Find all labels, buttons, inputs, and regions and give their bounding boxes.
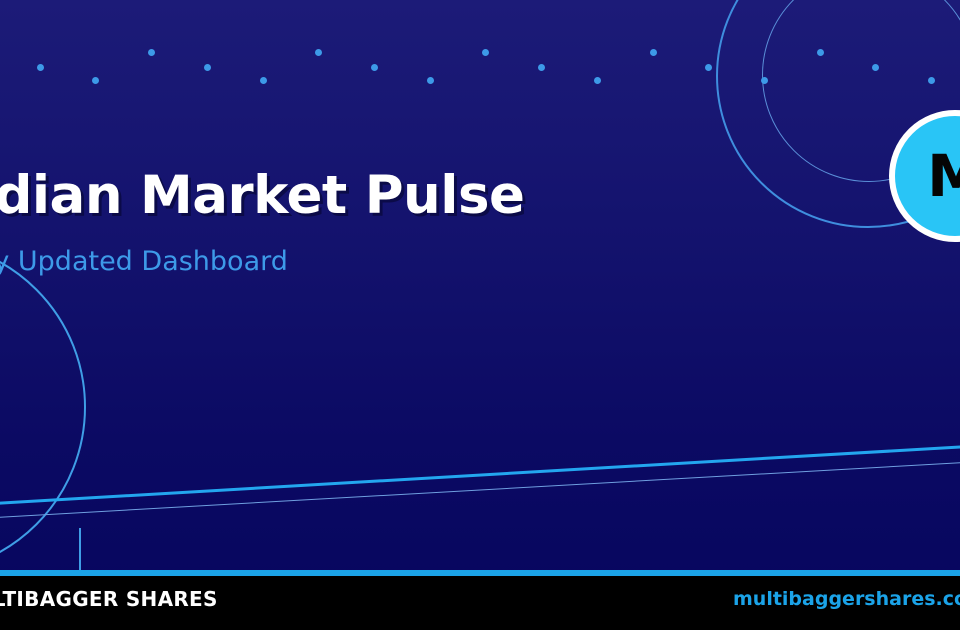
decor-dot-icon bbox=[37, 64, 44, 71]
headline-block: Indian Market Pulse Daily Updated Dashbo… bbox=[0, 168, 638, 277]
decorative-background bbox=[0, 0, 960, 630]
decor-dot-icon bbox=[538, 64, 545, 71]
logo-letter: M bbox=[927, 147, 960, 205]
decor-dot-icon bbox=[594, 77, 601, 84]
decor-dot-icon bbox=[872, 64, 879, 71]
decor-dot-icon bbox=[315, 49, 322, 56]
decor-dot-icon bbox=[371, 64, 378, 71]
decor-dot-icon bbox=[427, 77, 434, 84]
decor-dot-icon bbox=[650, 49, 657, 56]
page-subtitle: Daily Updated Dashboard bbox=[0, 246, 638, 277]
axis-tick-icon bbox=[79, 528, 81, 570]
arc-bottom-left-decor-icon bbox=[0, 240, 86, 574]
decor-dot-icon bbox=[204, 64, 211, 71]
trend-line-secondary-icon bbox=[0, 459, 960, 520]
decor-dot-icon bbox=[148, 49, 155, 56]
decor-dot-icon bbox=[705, 64, 712, 71]
presentation-slide: M Indian Market Pulse Daily Updated Dash… bbox=[0, 0, 960, 630]
decor-dot-icon bbox=[817, 49, 824, 56]
decor-dot-icon bbox=[92, 77, 99, 84]
decor-dot-icon bbox=[260, 77, 267, 84]
page-title: Indian Market Pulse bbox=[0, 168, 638, 224]
logo-badge: M bbox=[889, 110, 960, 242]
decor-dot-icon bbox=[482, 49, 489, 56]
trend-line-primary-icon bbox=[0, 442, 960, 507]
footer-bar: MULTIBAGGER SHARES multibaggershares.com bbox=[0, 576, 960, 630]
footer-brand-name: MULTIBAGGER SHARES bbox=[0, 587, 218, 611]
decor-dot-icon bbox=[761, 77, 768, 84]
decor-dot-icon bbox=[928, 77, 935, 84]
footer-website-link[interactable]: multibaggershares.com bbox=[733, 588, 960, 610]
